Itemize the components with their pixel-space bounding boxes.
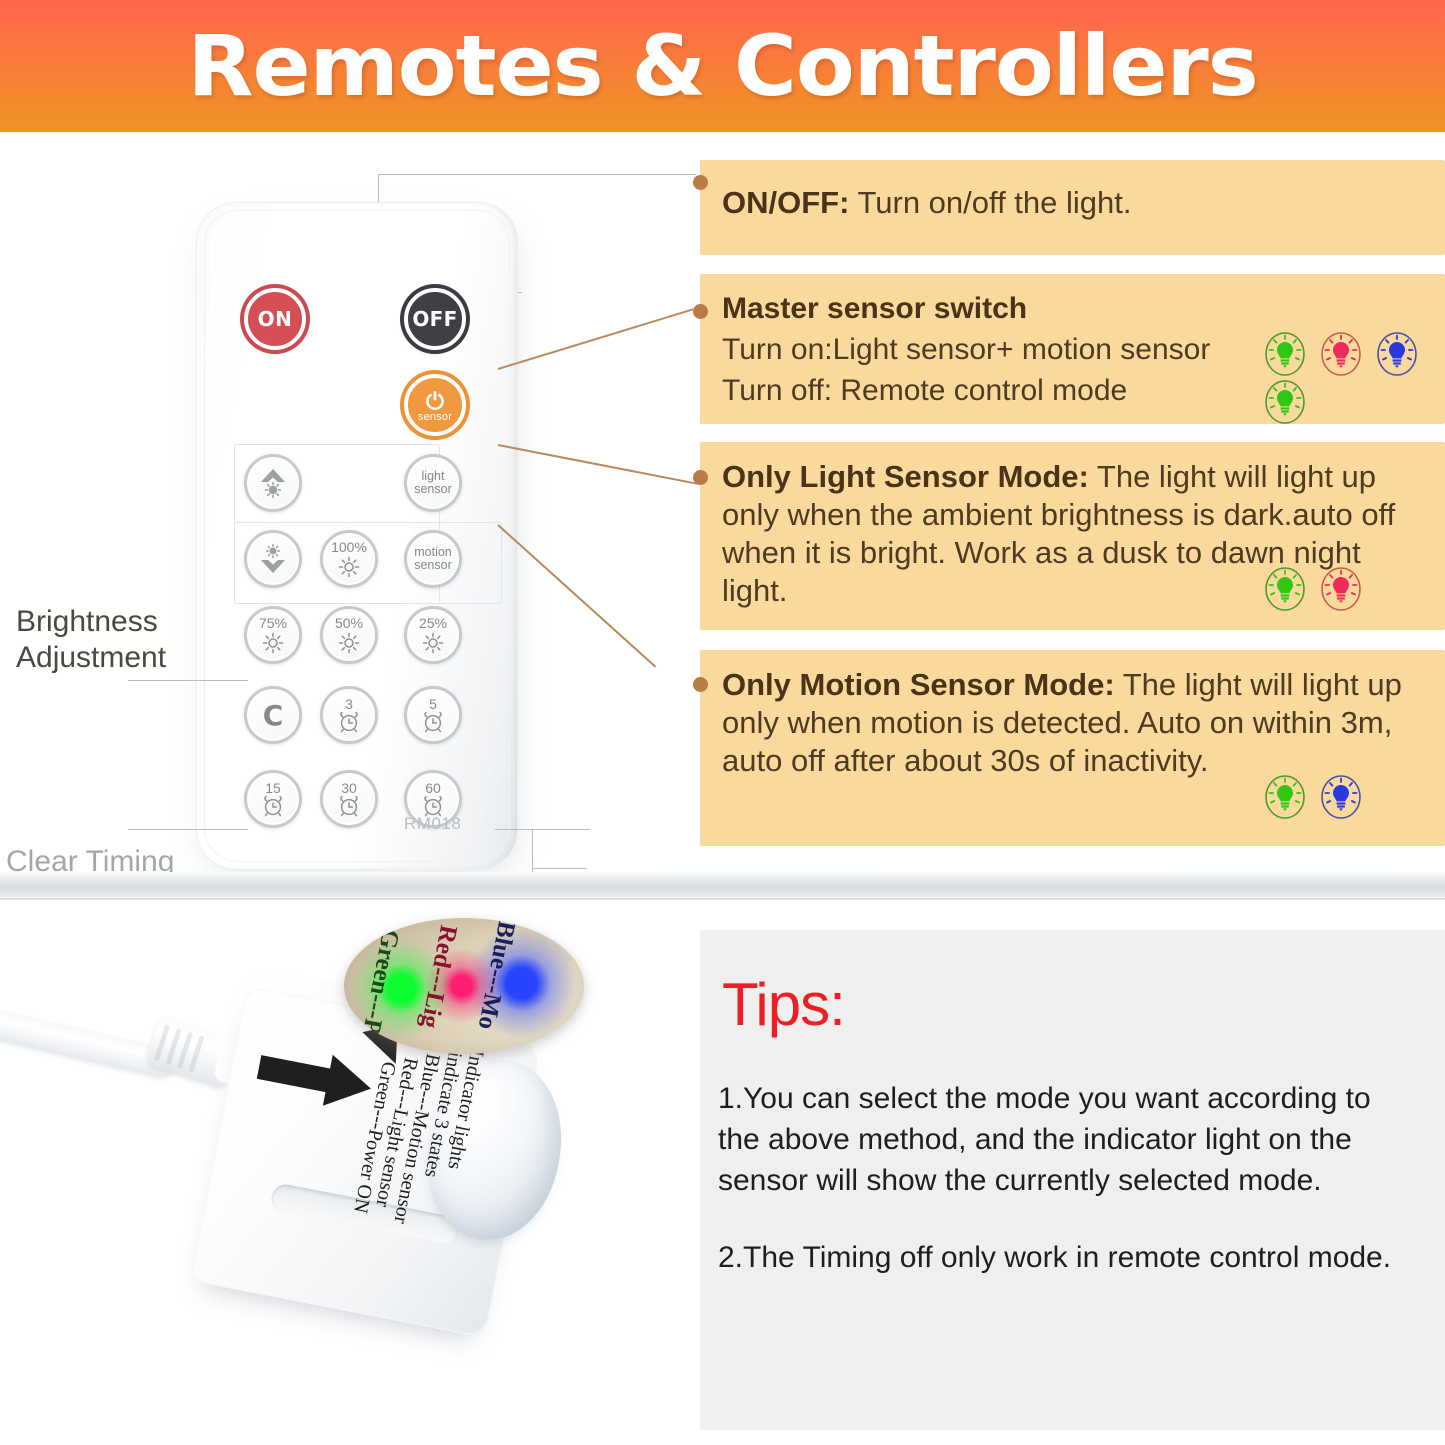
preset-50-label: 50% <box>335 616 363 631</box>
master-bulbs-row1 <box>1262 331 1420 377</box>
callout-onoff-dot <box>693 175 708 190</box>
magnifier-bubble: Blue---Mo Red---Lig Green---P <box>344 918 584 1054</box>
motion-mode-bulbs <box>1262 774 1364 820</box>
callout-onoff-text: Turn on/off the light. <box>849 185 1131 220</box>
alarm-clock-icon <box>260 794 286 818</box>
timer-15-label: 15 <box>265 781 281 795</box>
callout-light-connector <box>498 444 701 485</box>
tips-item-1: 1.You can select the mode you want accor… <box>718 1078 1418 1201</box>
callout-onoff: ON/OFF: Turn on/off the light. <box>700 160 1445 255</box>
sun-icon <box>337 631 361 655</box>
brightness-down-icon <box>255 541 291 577</box>
preset-25-button[interactable]: 25% <box>404 606 462 664</box>
master-bulbs-row2 <box>1262 379 1308 425</box>
red-bulb-icon <box>1318 331 1364 377</box>
light-mode-bulbs <box>1262 566 1364 612</box>
timing-leader-top <box>495 829 590 830</box>
clear-timing-leader <box>128 829 248 830</box>
tips-body: 1.You can select the mode you want accor… <box>718 1078 1418 1314</box>
callout-master-connector <box>498 308 694 370</box>
brightness-adjustment-label: Brightness Adjustment <box>16 604 166 676</box>
blue-bulb-icon <box>1374 331 1420 377</box>
timer-30-button[interactable]: 30 <box>320 770 378 828</box>
page-title: Remotes & Controllers <box>187 24 1257 108</box>
sensor-tips-section: Indicator lights indicate 3 states Blue-… <box>0 900 1445 1445</box>
sun-icon <box>261 631 285 655</box>
remote-sensor-button[interactable]: ⏻ sensor <box>404 374 466 436</box>
alarm-clock-icon <box>336 794 362 818</box>
timer-15-button[interactable]: 15 <box>244 770 302 828</box>
clear-label: C <box>263 699 284 732</box>
infographic-page: Remotes & Controllers ON OFF ⏻ <box>0 0 1445 1445</box>
tips-panel: Tips: 1.You can select the mode you want… <box>700 930 1445 1430</box>
green-bulb-icon <box>1262 566 1308 612</box>
green-bulb-icon <box>1262 774 1308 820</box>
remote-on-button[interactable]: ON <box>244 288 306 350</box>
brightness-down-button[interactable] <box>244 530 302 588</box>
light-sensor-button[interactable]: light sensor <box>404 454 462 512</box>
timing-leader-mid <box>532 868 587 869</box>
timer-5-label: 5 <box>429 697 437 711</box>
motion-sensor-device: Indicator lights indicate 3 states Blue-… <box>0 900 690 1445</box>
preset-100-button[interactable]: 100% <box>320 530 378 588</box>
timer-60-label: 60 <box>425 781 441 795</box>
off-label: OFF <box>412 307 457 331</box>
motion-sensor-line2: sensor <box>414 558 452 572</box>
onoff-leader-top <box>378 174 696 175</box>
blue-bulb-icon <box>1318 774 1364 820</box>
sun-icon <box>421 631 445 655</box>
sun-icon <box>337 555 361 579</box>
callout-motion-bold: Only Motion Sensor Mode: <box>722 667 1115 702</box>
callout-master-sensor: Master sensor switch Turn on:Light senso… <box>700 274 1445 424</box>
motion-sensor-line1: motion <box>414 545 452 559</box>
magnifier-line2: Red---Lig <box>415 923 462 1031</box>
brightness-label-line1: Brightness <box>16 604 166 640</box>
preset-75-label: 75% <box>259 616 287 631</box>
preset-50-button[interactable]: 50% <box>320 606 378 664</box>
callout-motion-dot <box>693 677 708 692</box>
clear-timing-button[interactable]: C <box>244 686 302 744</box>
green-bulb-icon <box>1262 331 1308 377</box>
remote-model-number: RM018 <box>404 814 461 834</box>
brightness-leader <box>128 680 248 681</box>
green-bulb-icon <box>1262 379 1308 425</box>
callout-master-dot <box>693 304 708 319</box>
sensor-label: sensor <box>418 411 452 423</box>
alarm-clock-icon <box>420 710 446 734</box>
remote-control: ON OFF ⏻ sensor <box>196 202 526 882</box>
brightness-label-line2: Adjustment <box>16 640 166 676</box>
callout-onoff-bold: ON/OFF: <box>722 185 849 220</box>
brightness-up-icon <box>255 465 291 501</box>
callout-light-sensor-mode: Only Light Sensor Mode: The light will l… <box>700 442 1445 630</box>
power-icon: ⏻ <box>426 393 444 409</box>
magnifier-line1: Blue---Mo <box>472 919 520 1032</box>
page-header: Remotes & Controllers <box>0 0 1445 132</box>
magnifier-line3: Green---P <box>356 927 404 1037</box>
callout-master-line2: Turn on:Light sensor+ motion sensor <box>722 333 1210 366</box>
brightness-up-button[interactable] <box>244 454 302 512</box>
timer-3-button[interactable]: 3 <box>320 686 378 744</box>
motion-sensor-button[interactable]: motion sensor <box>404 530 462 588</box>
red-bulb-icon <box>1318 566 1364 612</box>
alarm-clock-icon <box>336 710 362 734</box>
preset-75-button[interactable]: 75% <box>244 606 302 664</box>
light-sensor-line2: sensor <box>414 482 452 496</box>
timer-30-label: 30 <box>341 781 357 795</box>
callout-master-line3: Turn off: Remote control mode <box>722 374 1127 407</box>
preset-25-label: 25% <box>419 616 447 631</box>
remote-off-button[interactable]: OFF <box>404 288 466 350</box>
timer-3-label: 3 <box>345 697 353 711</box>
preset-100-label: 100% <box>331 540 367 555</box>
on-label: ON <box>258 307 293 331</box>
tips-item-2: 2.The Timing off only work in remote con… <box>718 1237 1418 1278</box>
tips-title: Tips: <box>722 970 845 1039</box>
callout-master-bold: Master sensor switch <box>722 292 1027 325</box>
remote-body: ON OFF ⏻ sensor <box>196 202 518 870</box>
section-divider <box>0 872 1445 900</box>
light-sensor-line1: light <box>422 469 445 483</box>
remote-section: ON OFF ⏻ sensor <box>0 132 1445 892</box>
timer-5-button[interactable]: 5 <box>404 686 462 744</box>
callout-light-bold: Only Light Sensor Mode: <box>722 459 1089 494</box>
callout-motion-sensor-mode: Only Motion Sensor Mode: The light will … <box>700 650 1445 846</box>
